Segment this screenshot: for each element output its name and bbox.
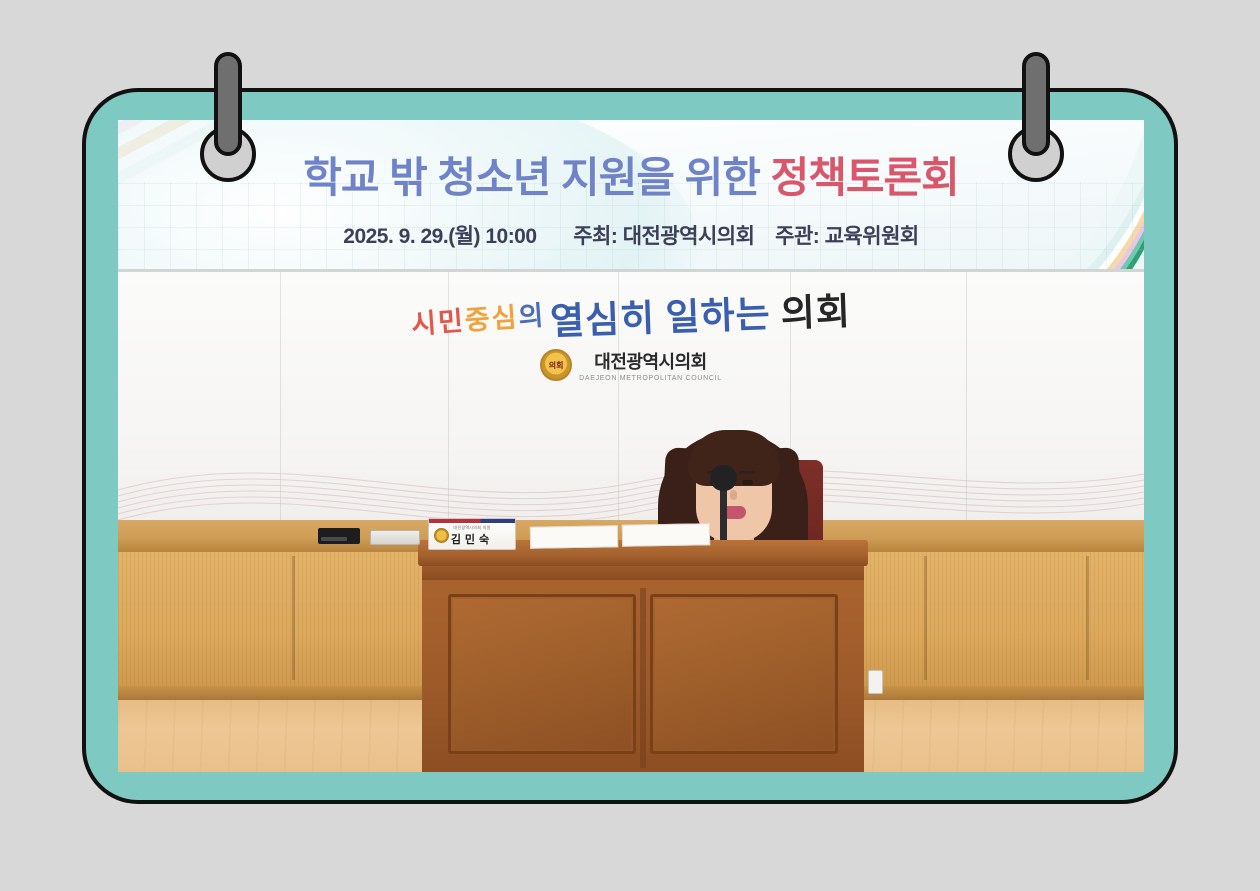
banner-title-main: 학교 밖 청소년 지원을 위한 <box>303 154 770 201</box>
banner-subtitle-date: 2025. 9. 29.(월) 10:00 <box>343 225 536 248</box>
clip-bar-icon <box>214 52 242 156</box>
desk-body <box>422 580 864 772</box>
speaker-nameplate: 대전광역시의회 의원 김민숙 <box>428 518 516 550</box>
desk-card-holder <box>370 530 420 545</box>
desk-center-seam <box>640 588 646 768</box>
calligraphy-top-2: 중심 <box>464 302 520 336</box>
desk-document <box>530 525 618 549</box>
calligraphy-top-3: 의 <box>518 300 547 332</box>
council-backdrop-logo: 시민중심의 열심히 일하는 의회 의회 대전광역시의회 DAEJEON METR… <box>118 290 1144 382</box>
nose <box>730 490 737 500</box>
eyebrow-right <box>739 471 755 474</box>
event-banner: 학교 밖 청소년 지원을 위한 정책토론회 2025. 9. 29.(월) 10… <box>118 120 1144 272</box>
calligraphy-top-1: 시민 <box>411 306 467 340</box>
calculator-keys-icon <box>321 537 347 541</box>
council-emblem-icon: 의회 <box>540 349 572 381</box>
banner-subtitle-organizer: 주관: 교육위원회 <box>775 225 919 248</box>
council-emblem-label: 의회 <box>549 360 564 371</box>
nameplate-emblem-icon <box>434 528 449 543</box>
banner-subtitle: 2025. 9. 29.(월) 10:00 주최: 대전광역시의회 주관: 교육… <box>118 220 1144 250</box>
banner-subtitle-host: 주최: 대전광역시의회 <box>573 225 754 248</box>
banner-title-accent: 정책토론회 <box>771 154 959 201</box>
desk-calculator <box>318 528 360 544</box>
council-wordmark: 의회 대전광역시의회 DAEJEON METROPOLITAN COUNCIL <box>118 348 1144 382</box>
desk-apron <box>422 566 864 580</box>
photograph: 학교 밖 청소년 지원을 위한 정책토론회 2025. 9. 29.(월) 10… <box>118 120 1144 772</box>
conference-room: 시민중심의 열심히 일하는 의회 의회 대전광역시의회 DAEJEON METR… <box>118 272 1144 772</box>
desk-panel-right <box>650 594 838 754</box>
clip-bar-icon <box>1022 52 1050 156</box>
nameplate-name: 김민숙 <box>451 531 493 547</box>
calligraphy-main-accent: 의회 <box>780 292 851 335</box>
banner-title: 학교 밖 청소년 지원을 위한 정책토론회 <box>118 144 1144 205</box>
nameplate-stripe <box>429 519 515 523</box>
wall-outlet-icon <box>868 670 883 694</box>
microphone-head-icon <box>710 465 737 491</box>
council-name-kr: 대전광역시의회 <box>579 348 722 374</box>
calligraphy-main-line: 열심히 일하는 의회 <box>549 281 852 345</box>
calligraphy-main-text: 열심히 일하는 <box>549 295 771 344</box>
desk-document <box>622 523 710 547</box>
calligraphy-top-line: 시민중심의 <box>410 293 547 341</box>
desk-panel-left <box>448 594 636 754</box>
council-name-en: DAEJEON METROPOLITAN COUNCIL <box>579 375 722 382</box>
eye-right <box>742 480 753 485</box>
conference-desk <box>418 540 868 772</box>
